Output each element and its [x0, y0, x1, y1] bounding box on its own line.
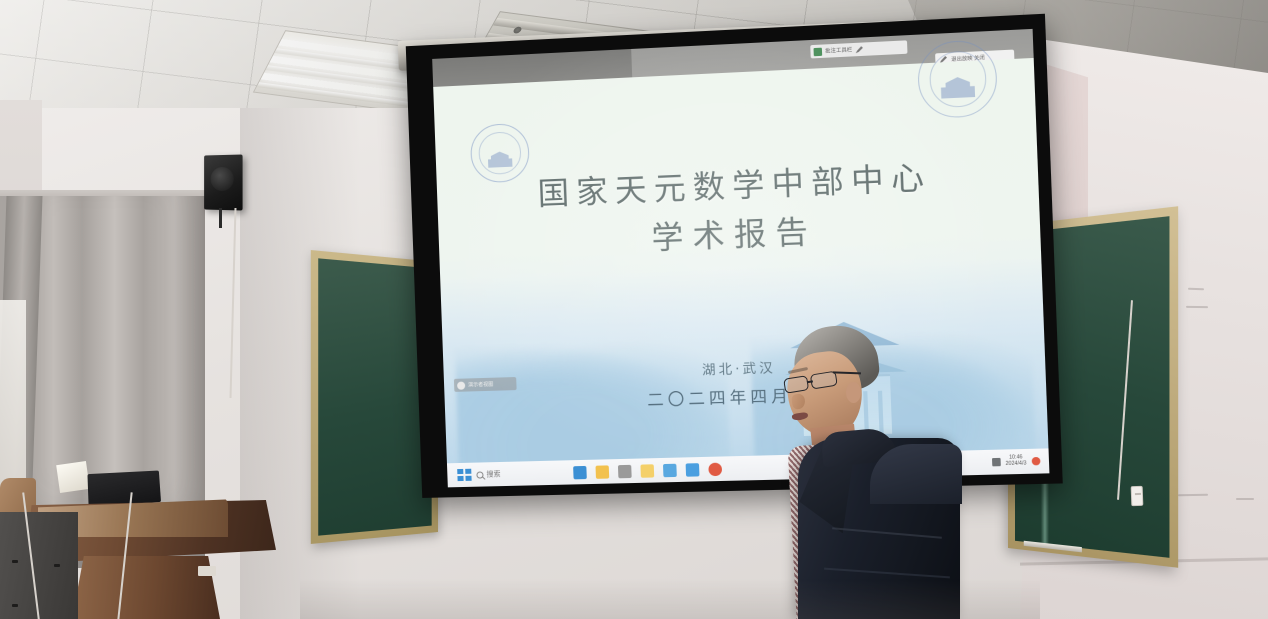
taskbar-app-icons[interactable] — [573, 462, 722, 479]
presenter-view-icon — [457, 381, 465, 389]
app-icon-mail[interactable] — [686, 463, 700, 477]
podium-papers — [56, 461, 90, 493]
floor-shadow — [300, 579, 1040, 619]
podium-laptop — [87, 470, 161, 505]
speaker-cone — [211, 167, 234, 191]
clock-date: 2024/4/3 — [1006, 461, 1027, 467]
search-icon — [476, 471, 483, 478]
taskbar-clock[interactable]: 10:46 2024/4/3 — [1005, 455, 1026, 467]
presenter — [770, 326, 970, 619]
app-icon-folder[interactable] — [640, 464, 654, 478]
power-outlet[interactable] — [1131, 486, 1144, 506]
app-icon-recording[interactable] — [708, 462, 722, 476]
app-icon-edge[interactable] — [573, 465, 587, 478]
pen-icon[interactable] — [855, 46, 863, 54]
annotation-toolbar-label: 批注工具栏 — [825, 46, 853, 55]
speaker-mount — [219, 208, 222, 228]
equipment-rack — [0, 512, 78, 619]
app-icon-store[interactable] — [618, 464, 632, 477]
podium-label-plate — [198, 566, 216, 576]
wall-mark — [1186, 306, 1208, 308]
slide-title-block: 国家天元数学中部中心 学术报告 — [436, 149, 1041, 272]
lecture-hall-scene: ChinaStars 批注工具栏 退出放映 关闭 — [0, 0, 1268, 619]
taskbar-search-label: 搜索 — [486, 469, 500, 479]
start-button-icon[interactable] — [457, 469, 471, 481]
wall-mark — [1236, 498, 1254, 500]
app-icon-explorer[interactable] — [595, 465, 609, 478]
wall-speaker — [204, 154, 242, 210]
app-icon-browser[interactable] — [663, 463, 677, 477]
taskbar-search[interactable]: 搜索 — [476, 469, 500, 480]
tray-notify-icon[interactable] — [1032, 457, 1041, 466]
presenter-view-label: 演示者视图 — [468, 381, 493, 389]
tray-network-icon[interactable] — [991, 458, 1000, 466]
annotation-icon — [813, 47, 822, 56]
presenter-ear — [846, 382, 861, 403]
chalk-tray — [1023, 541, 1082, 553]
presenter-view-button[interactable]: 演示者视图 — [454, 377, 517, 392]
system-tray[interactable]: 10:46 2024/4/3 — [991, 455, 1040, 468]
